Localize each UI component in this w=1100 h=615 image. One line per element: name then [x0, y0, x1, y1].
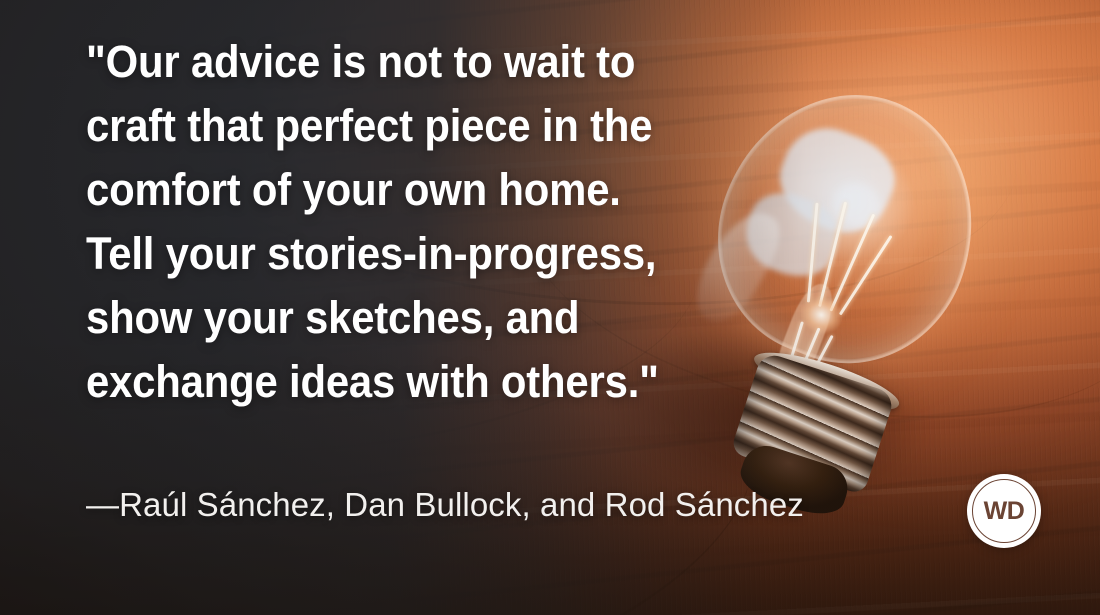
quote-line: show your sketches, and	[86, 286, 737, 350]
quote-attribution: —Raúl Sánchez, Dan Bullock, and Rod Sánc…	[86, 486, 804, 524]
quote-line: "Our advice is not to wait to	[86, 30, 737, 94]
quote-graphic-canvas: "Our advice is not to wait to craft that…	[0, 0, 1100, 615]
quote-line: comfort of your own home.	[86, 158, 737, 222]
logo-monogram: WD	[984, 499, 1025, 524]
quote-line: craft that perfect piece in the	[86, 94, 737, 158]
quote-line: Tell your stories-in-progress,	[86, 222, 737, 286]
quote-text: "Our advice is not to wait to craft that…	[86, 30, 737, 414]
quote-line: exchange ideas with others."	[86, 350, 737, 414]
writers-digest-logo: WD	[967, 474, 1041, 548]
